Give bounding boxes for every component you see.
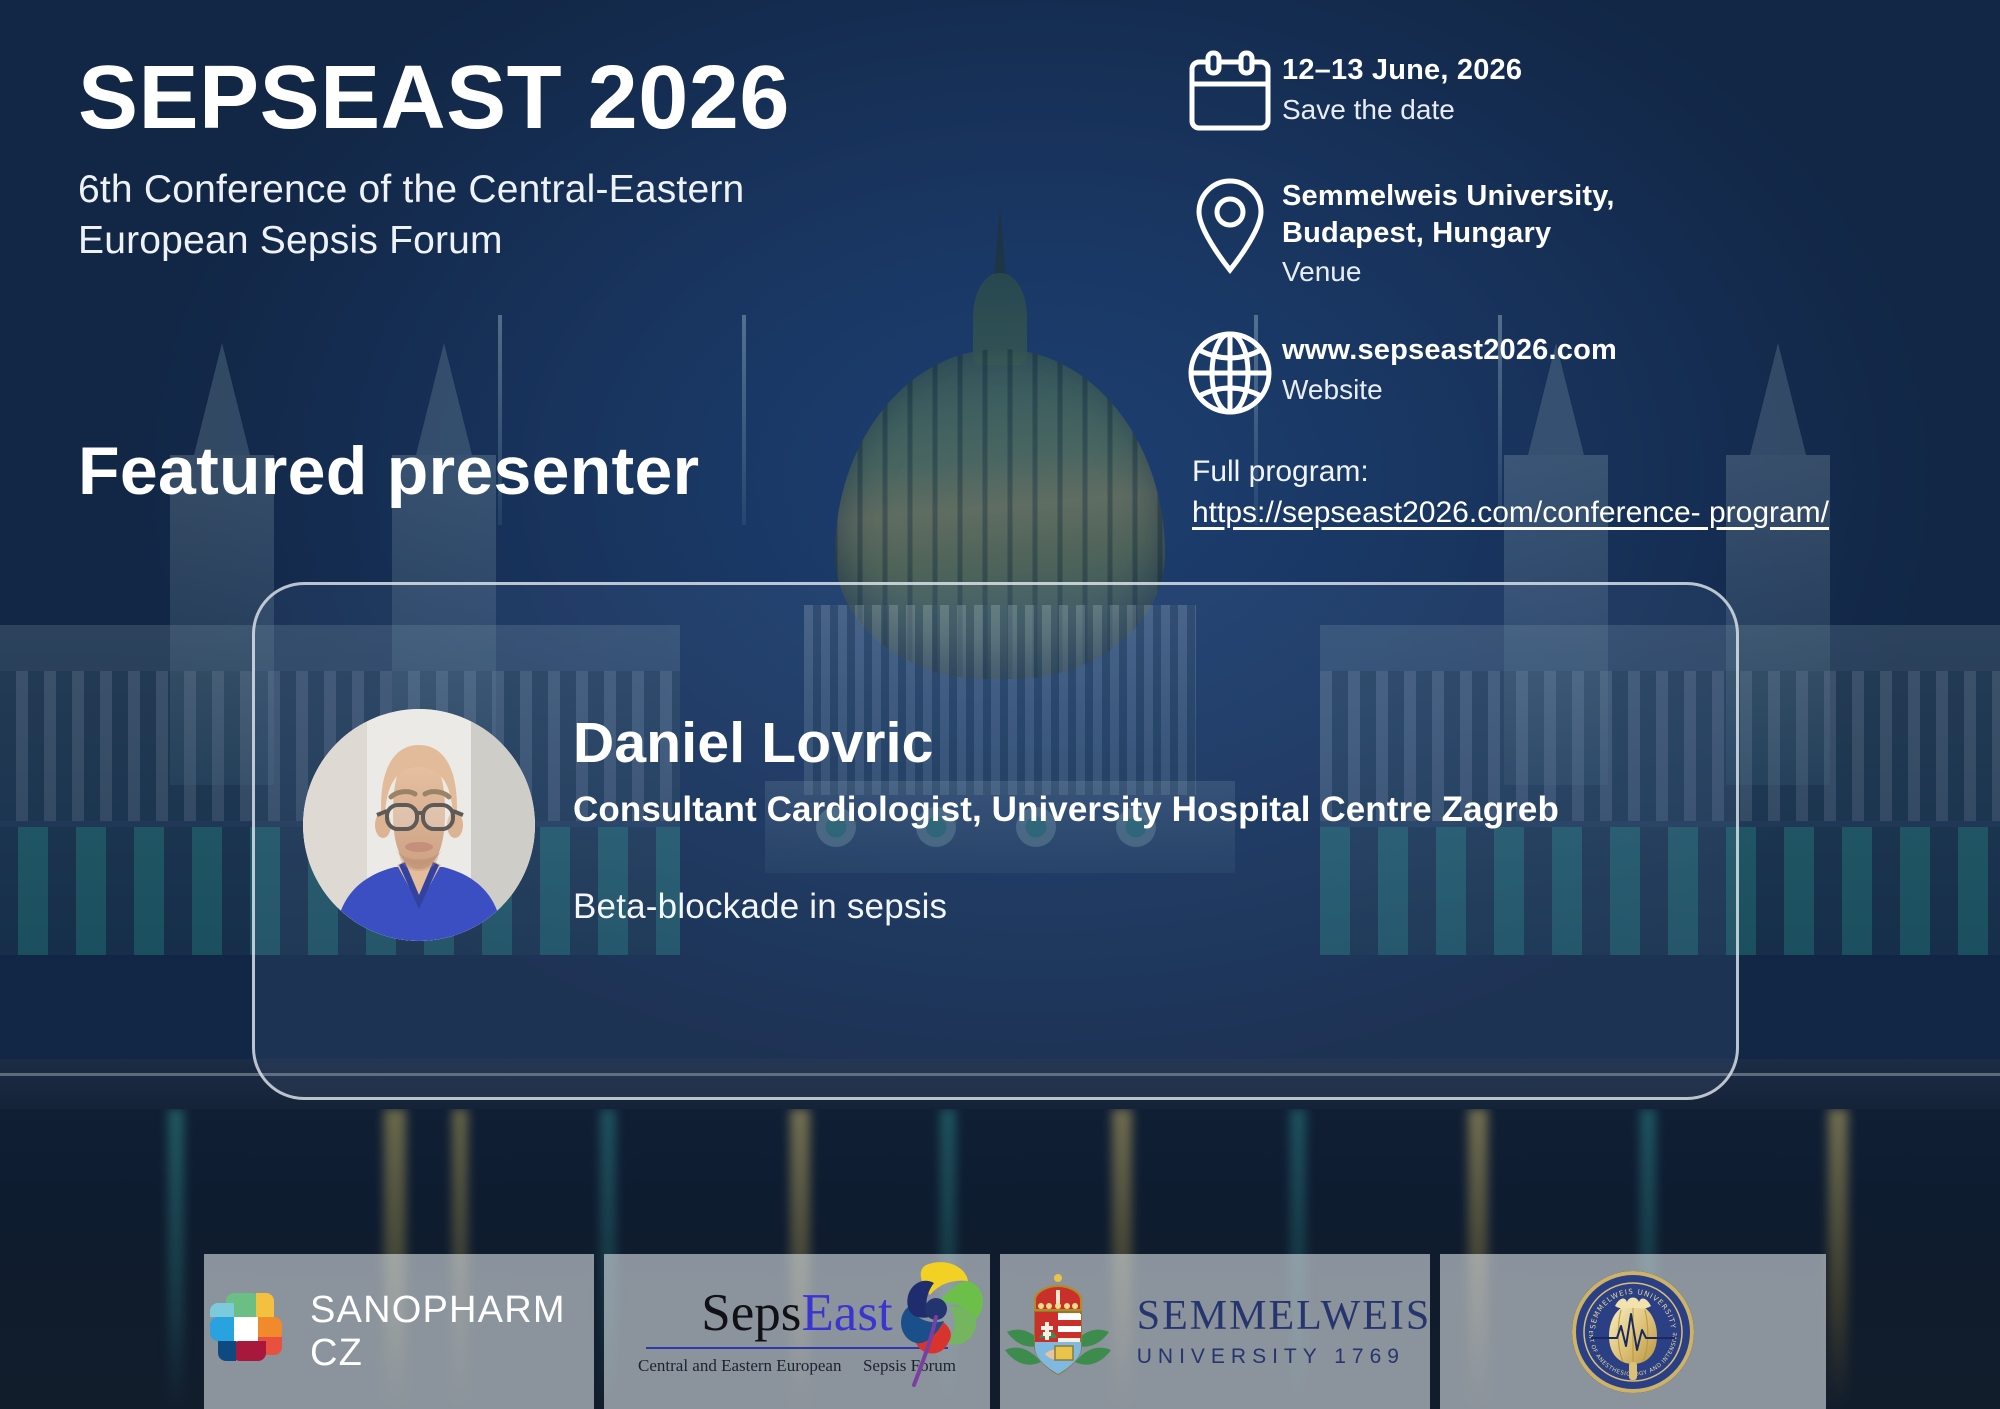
- featured-presenter-label: Featured presenter: [78, 432, 699, 510]
- semmelweis-wordmark: SEMMELWEIS: [1137, 1293, 1432, 1339]
- sponsor-sanopharm-cz[interactable]: SANOPHARM CZ: [204, 1254, 594, 1409]
- poster-heading: SEPSEAST 2026 6th Conference of the Cent…: [78, 52, 1138, 267]
- info-row-website: www.sepseast2026.com Website: [1178, 326, 1968, 416]
- venue-line-2: Budapest, Hungary: [1282, 215, 1615, 252]
- sepseast-word-east: East: [801, 1284, 892, 1342]
- globe-icon: [1178, 326, 1282, 416]
- full-program-link[interactable]: https://sepseast2026.com/conference- pro…: [1192, 493, 1968, 534]
- avatar: [303, 709, 535, 941]
- website-label: Website: [1282, 372, 1617, 408]
- sanopharm-pinwheel-icon: [204, 1287, 288, 1376]
- sponsor-semmelweis-university[interactable]: SEMMELWEIS UNIVERSITY 1769: [1000, 1254, 1430, 1409]
- save-the-date-label: Save the date: [1282, 92, 1522, 128]
- info-row-venue: Semmelweis University, Budapest, Hungary…: [1178, 172, 1968, 290]
- info-text-website: www.sepseast2026.com Website: [1282, 326, 1617, 408]
- anaesthesiology-seal-icon: SEMMELWEIS UNIVERSITY DEPARTMENT OF ANES…: [1571, 1270, 1695, 1394]
- semmelweis-coat-of-arms-icon: [999, 1270, 1117, 1393]
- sponsor-sepseast[interactable]: SepsEast Central and Eastern European Se…: [604, 1254, 990, 1409]
- full-program-label: Full program:: [1192, 452, 1968, 493]
- venue-name: Semmelweis University, Budapest, Hungary: [1282, 178, 1615, 251]
- info-row-date: 12–13 June, 2026 Save the date: [1178, 46, 1968, 136]
- sepseast-word-seps: Seps: [701, 1284, 801, 1342]
- calendar-icon: [1178, 46, 1282, 136]
- map-pin-icon: [1178, 172, 1282, 274]
- sepseast-tagline-left: Central and Eastern European: [638, 1356, 841, 1376]
- sanopharm-label: SANOPHARM CZ: [310, 1289, 594, 1375]
- sponsor-strip: SANOPHARM CZ SepsEast Central and Easter…: [204, 1254, 1826, 1409]
- venue-label: Venue: [1282, 254, 1615, 290]
- full-program-block: Full program: https://sepseast2026.com/c…: [1192, 452, 1968, 534]
- presenter-name: Daniel Lovric: [573, 713, 1693, 773]
- poster-subtitle: 6th Conference of the Central-Eastern Eu…: [78, 164, 1138, 268]
- presenter-details: Daniel Lovric Consultant Cardiologist, U…: [573, 713, 1693, 927]
- semmelweis-subtitle: UNIVERSITY 1769: [1137, 1345, 1432, 1369]
- event-dates: 12–13 June, 2026: [1282, 52, 1522, 89]
- sponsor-semmelweis-anaesthesiology[interactable]: SEMMELWEIS UNIVERSITY DEPARTMENT OF ANES…: [1440, 1254, 1826, 1409]
- subtitle-line-2: European Sepsis Forum: [78, 215, 1138, 267]
- venue-line-1: Semmelweis University,: [1282, 178, 1615, 215]
- page-title: SEPSEAST 2026: [78, 52, 1138, 146]
- presenter-role: Consultant Cardiologist, University Hosp…: [573, 789, 1693, 831]
- featured-presenter-card: Daniel Lovric Consultant Cardiologist, U…: [252, 582, 1739, 1100]
- presenter-talk-title: Beta-blockade in sepsis: [573, 887, 1693, 927]
- event-info-list: 12–13 June, 2026 Save the date Semmelwei…: [1178, 46, 1968, 534]
- website-url[interactable]: www.sepseast2026.com: [1282, 332, 1617, 369]
- info-text-date: 12–13 June, 2026 Save the date: [1282, 46, 1522, 128]
- subtitle-line-1: 6th Conference of the Central-Eastern: [78, 164, 1138, 216]
- info-text-venue: Semmelweis University, Budapest, Hungary…: [1282, 172, 1615, 290]
- conference-poster: SEPSEAST 2026 6th Conference of the Cent…: [0, 0, 2000, 1409]
- sepseast-pinwheel-icon: [880, 1259, 988, 1392]
